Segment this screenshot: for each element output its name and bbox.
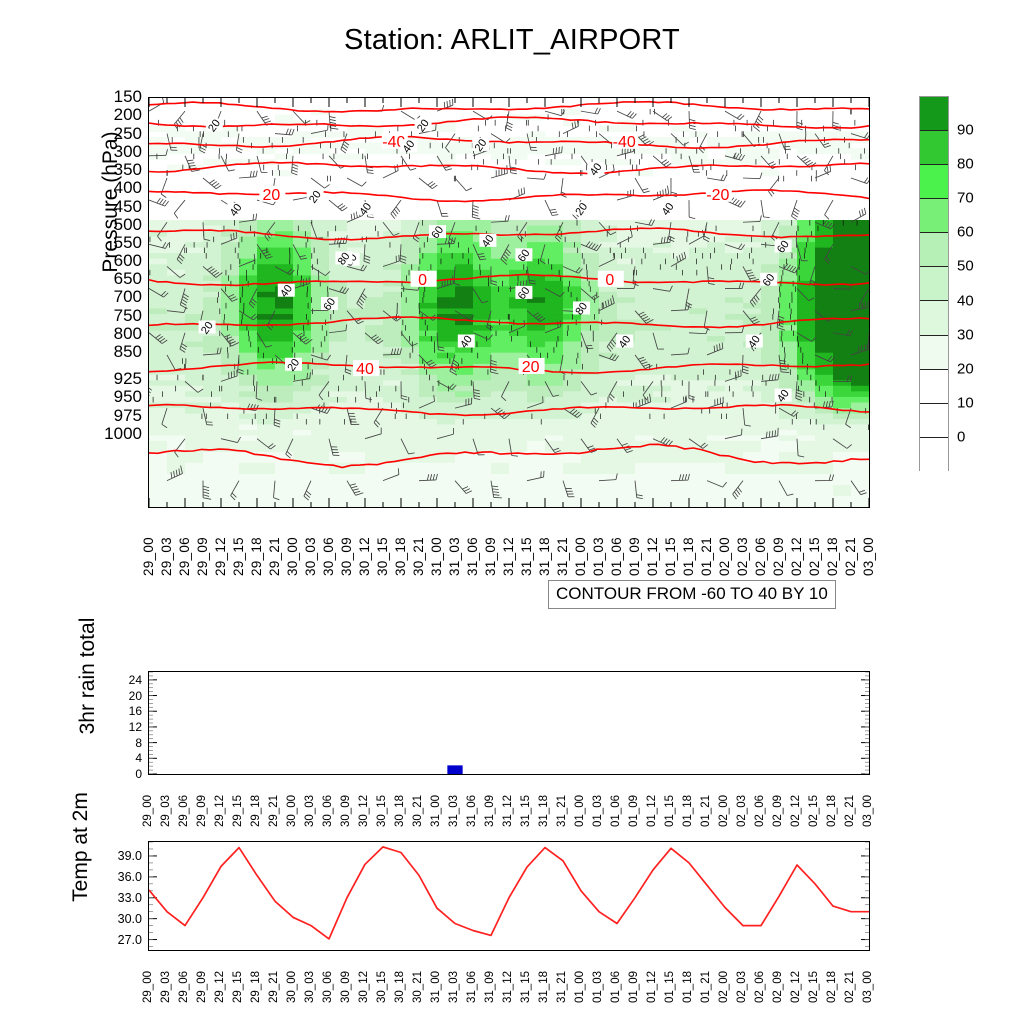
time-tick-label: 03_00	[861, 537, 876, 576]
time-tick-label: 30_15	[376, 971, 388, 1003]
time-tick-label: 01_09	[627, 537, 642, 576]
time-tick-label: 30_06	[321, 537, 336, 576]
colorbar-band	[920, 438, 948, 472]
time-tick-label: 01_21	[700, 971, 712, 1003]
colorbar-band	[920, 301, 948, 335]
weather-sounding-page: Station: ARLIT_AIRPORT Pressure (hPa) 15…	[0, 0, 1024, 1024]
rain-tick-labels: 04812162024	[100, 671, 142, 775]
time-tick-label: 03_00	[862, 795, 874, 827]
time-tick-label: 01_12	[646, 795, 658, 827]
time-tick-label: 01_18	[682, 795, 694, 827]
pressure-tick-label: 700	[114, 287, 142, 307]
time-tick-label: 30_15	[376, 795, 388, 827]
time-tick-label: 31_09	[484, 971, 496, 1003]
time-tick-label: 30_12	[357, 537, 372, 576]
time-tick-label: 31_00	[430, 795, 442, 827]
rain-time-tick-labels: 29_0029_0329_0629_0929_1229_1529_1829_21…	[148, 779, 870, 827]
time-tick-label: 01_03	[592, 795, 604, 827]
time-tick-label: 02_06	[754, 795, 766, 827]
pressure-tick-label: 250	[114, 124, 142, 144]
time-height-plot[interactable]: -40-4020-2000402020202020404020404040606…	[148, 97, 870, 508]
colorbar-tick-label: 40	[957, 292, 974, 309]
time-tick-label: 02_09	[771, 537, 786, 576]
colorbar-band	[920, 97, 948, 131]
svg-text:20: 20	[263, 187, 281, 204]
time-tick-label: 01_06	[609, 537, 624, 576]
time-tick-label: 01_15	[663, 537, 678, 576]
pressure-tick-label: 1000	[104, 424, 142, 444]
time-tick-label: 30_06	[322, 795, 334, 827]
temp-svg	[149, 842, 869, 950]
time-tick-label: 02_15	[808, 971, 820, 1003]
time-tick-label: 31_21	[556, 795, 568, 827]
time-tick-label: 31_18	[537, 537, 552, 576]
pressure-tick-label: 500	[114, 215, 142, 235]
time-tick-label: 31_06	[465, 537, 480, 576]
time-tick-label: 29_15	[231, 537, 246, 576]
time-tick-label: 30_09	[340, 795, 352, 827]
time-tick-label: 02_21	[843, 537, 858, 576]
rain-tick-label: 0	[135, 767, 142, 781]
pressure-tick-label: 350	[114, 160, 142, 180]
colorbar-band	[920, 233, 948, 267]
temp-tick-label: 39.0	[118, 849, 142, 863]
time-tick-label: 30_03	[303, 537, 318, 576]
svg-text:0: 0	[605, 272, 614, 289]
time-tick-label: 31_12	[501, 537, 516, 576]
time-tick-label: 01_06	[610, 971, 622, 1003]
time-tick-label: 02_00	[718, 795, 730, 827]
time-tick-label: 30_21	[412, 971, 424, 1003]
time-tick-label: 02_21	[844, 971, 856, 1003]
colorbar-tick-label: 90	[957, 122, 974, 139]
pressure-tick-label: 200	[114, 105, 142, 125]
colorbar-band	[920, 165, 948, 199]
time-tick-label: 29_00	[142, 971, 154, 1003]
time-tick-label: 30_09	[340, 971, 352, 1003]
pressure-tick-label: 550	[114, 233, 142, 253]
time-tick-label: 31_12	[502, 795, 514, 827]
rain-tick-label: 8	[135, 736, 142, 750]
time-tick-label: 31_18	[538, 971, 550, 1003]
time-tick-label: 31_09	[484, 795, 496, 827]
time-tick-label: 31_15	[519, 537, 534, 576]
time-tick-label: 02_18	[826, 971, 838, 1003]
colorbar-band	[920, 131, 948, 165]
colorbar-tick-label: 20	[957, 360, 974, 377]
time-tick-label: 30_06	[322, 971, 334, 1003]
time-tick-label: 29_12	[214, 795, 226, 827]
rain-tick-label: 16	[129, 704, 142, 718]
pressure-tick-label: 950	[114, 387, 142, 407]
time-tick-label: 31_00	[430, 971, 442, 1003]
temp-tick-label: 36.0	[118, 870, 142, 884]
svg-text:20: 20	[522, 359, 540, 376]
time-tick-label: 29_18	[249, 537, 264, 576]
temp-tick-label: 27.0	[118, 933, 142, 947]
time-tick-label: 01_09	[628, 971, 640, 1003]
rain-svg	[149, 672, 869, 774]
time-tick-label: 29_03	[160, 971, 172, 1003]
time-tick-label: 31_15	[520, 795, 532, 827]
time-tick-label: 30_00	[286, 795, 298, 827]
time-tick-label: 02_12	[790, 971, 802, 1003]
svg-text:0: 0	[418, 272, 427, 289]
temp-tick-labels: 27.030.033.036.039.0	[92, 841, 142, 951]
time-tick-label: 02_00	[717, 537, 732, 576]
pressure-tick-labels: 1502002503003504004505005506006507007508…	[86, 97, 142, 508]
colorbar-tick-label: 50	[957, 258, 974, 275]
time-tick-label: 02_15	[807, 537, 822, 576]
temp-tick-label: 30.0	[118, 912, 142, 926]
time-height-svg: -40-4020-2000402020202020404020404040606…	[149, 98, 869, 507]
pressure-tick-label: 650	[114, 269, 142, 289]
time-tick-label: 01_09	[628, 795, 640, 827]
pressure-tick-label: 850	[114, 342, 142, 362]
time-tick-label: 29_18	[250, 795, 262, 827]
colorbar-band	[920, 370, 948, 404]
colorbar-tick-label: 10	[957, 394, 974, 411]
temp-axis-title: Temp at 2m	[69, 742, 93, 952]
svg-text:40: 40	[356, 361, 374, 378]
time-tick-label: 29_09	[196, 971, 208, 1003]
temp-time-tick-labels: 29_0029_0329_0629_0929_1229_1529_1829_21…	[148, 955, 870, 1003]
svg-text:-40: -40	[613, 134, 636, 151]
time-tick-label: 31_21	[555, 537, 570, 576]
time-tick-label: 29_15	[232, 795, 244, 827]
time-tick-label: 31_21	[556, 971, 568, 1003]
rain-tick-label: 20	[129, 689, 142, 703]
temp-tick-label: 33.0	[118, 891, 142, 905]
time-tick-label: 29_00	[142, 795, 154, 827]
time-tick-label: 01_15	[664, 795, 676, 827]
time-tick-label: 01_03	[591, 537, 606, 576]
time-tick-label: 30_03	[304, 795, 316, 827]
colorbar-tick-label: 60	[957, 224, 974, 241]
time-tick-label: 01_12	[645, 537, 660, 576]
colorbar-tick-label: 70	[957, 190, 974, 207]
time-tick-label: 31_18	[538, 795, 550, 827]
time-tick-label: 02_09	[772, 971, 784, 1003]
time-tick-label: 29_06	[178, 971, 190, 1003]
time-tick-label: 31_09	[483, 537, 498, 576]
time-tick-label: 31_06	[466, 971, 478, 1003]
time-tick-label: 02_12	[789, 537, 804, 576]
time-tick-label: 02_18	[825, 537, 840, 576]
colorbar-band	[920, 336, 948, 370]
time-tick-label: 02_03	[736, 971, 748, 1003]
time-tick-label: 29_12	[214, 971, 226, 1003]
time-tick-label: 02_15	[808, 795, 820, 827]
time-tick-label: 01_18	[682, 971, 694, 1003]
time-tick-label: 01_18	[681, 537, 696, 576]
time-tick-label: 01_06	[610, 795, 622, 827]
time-tick-label: 01_21	[699, 537, 714, 576]
rain-tick-label: 24	[129, 673, 142, 687]
time-tick-label: 30_09	[339, 537, 354, 576]
rain-tick-label: 4	[135, 751, 142, 765]
time-tick-label: 02_18	[826, 795, 838, 827]
time-tick-label: 01_00	[574, 971, 586, 1003]
time-tick-label: 03_00	[862, 971, 874, 1003]
time-tick-label: 02_03	[736, 795, 748, 827]
temp-plot[interactable]	[148, 841, 870, 951]
time-tick-label: 30_15	[375, 537, 390, 576]
time-tick-label: 30_00	[285, 537, 300, 576]
time-tick-label: 01_12	[646, 971, 658, 1003]
colorbar-tick-label: 0	[957, 428, 965, 445]
time-tick-label: 29_18	[250, 971, 262, 1003]
time-tick-label: 02_21	[844, 795, 856, 827]
time-tick-label: 30_18	[394, 971, 406, 1003]
time-tick-label: 30_18	[393, 537, 408, 576]
time-tick-label: 29_15	[232, 971, 244, 1003]
time-tick-label: 31_12	[502, 971, 514, 1003]
time-tick-label: 30_12	[358, 971, 370, 1003]
time-tick-label: 01_21	[700, 795, 712, 827]
time-tick-label: 02_00	[718, 971, 730, 1003]
time-tick-label: 31_15	[520, 971, 532, 1003]
time-tick-label: 29_06	[177, 537, 192, 576]
time-tick-label: 29_00	[141, 537, 156, 576]
pressure-tick-label: 300	[114, 142, 142, 162]
time-tick-label: 02_09	[772, 795, 784, 827]
time-tick-label: 31_03	[448, 795, 460, 827]
time-tick-label: 30_00	[286, 971, 298, 1003]
rain-tick-label: 12	[129, 720, 142, 734]
rain-plot[interactable]	[148, 671, 870, 775]
humidity-colorbar[interactable]	[919, 96, 949, 471]
time-tick-label: 29_21	[268, 971, 280, 1003]
time-tick-label: 30_12	[358, 795, 370, 827]
time-tick-label: 01_03	[592, 971, 604, 1003]
contour-note: CONTOUR FROM -60 TO 40 BY 10	[548, 580, 836, 609]
time-tick-label: 02_06	[754, 971, 766, 1003]
colorbar-band	[920, 404, 948, 438]
time-tick-label: 02_12	[790, 795, 802, 827]
time-tick-label: 31_03	[448, 971, 460, 1003]
time-tick-label: 01_00	[573, 537, 588, 576]
pressure-tick-label: 600	[114, 251, 142, 271]
time-tick-label: 31_03	[447, 537, 462, 576]
time-tick-label: 30_03	[304, 971, 316, 1003]
pressure-tick-label: 400	[114, 178, 142, 198]
time-tick-label: 31_00	[429, 537, 444, 576]
time-tick-label: 29_03	[160, 795, 172, 827]
colorbar-band	[920, 199, 948, 233]
time-tick-label: 02_06	[753, 537, 768, 576]
time-tick-label: 01_00	[574, 795, 586, 827]
pressure-tick-label: 925	[114, 369, 142, 389]
colorbar-tick-label: 30	[957, 326, 974, 343]
time-tick-label: 29_03	[159, 537, 174, 576]
svg-text:-20: -20	[706, 187, 729, 204]
time-tick-label: 30_21	[411, 537, 426, 576]
time-tick-label: 30_18	[394, 795, 406, 827]
time-tick-label: 29_21	[267, 537, 282, 576]
page-title: Station: ARLIT_AIRPORT	[0, 24, 1024, 57]
time-tick-label: 29_06	[178, 795, 190, 827]
time-tick-label: 29_12	[213, 537, 228, 576]
colorbar-tick-label: 80	[957, 156, 974, 173]
time-tick-label: 02_03	[735, 537, 750, 576]
time-tick-label: 29_21	[268, 795, 280, 827]
main-time-tick-labels: 29_0029_0329_0629_0929_1229_1529_1829_21…	[148, 514, 870, 576]
colorbar-band	[920, 267, 948, 301]
time-tick-label: 29_09	[195, 537, 210, 576]
time-tick-label: 01_15	[664, 971, 676, 1003]
time-tick-label: 31_06	[466, 795, 478, 827]
time-tick-label: 30_21	[412, 795, 424, 827]
time-tick-label: 29_09	[196, 795, 208, 827]
pressure-tick-label: 800	[114, 324, 142, 344]
